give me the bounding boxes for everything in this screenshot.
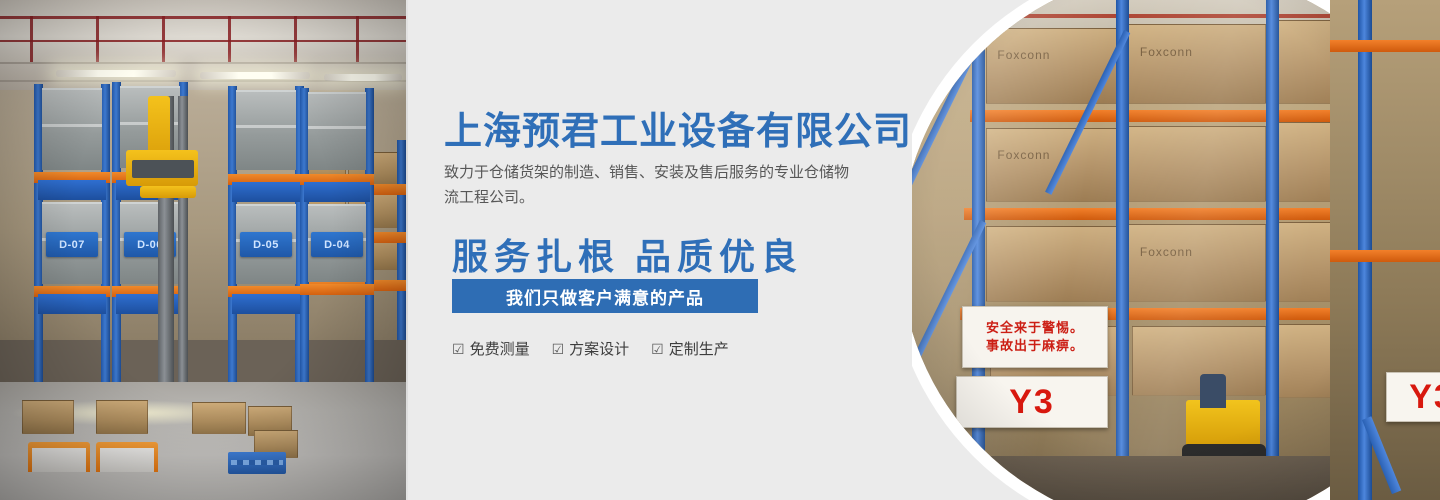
company-title: 上海预君工业设备有限公司 xyxy=(444,100,912,155)
aisle-sign-partial: Y3 xyxy=(1386,372,1440,422)
feature-item-scheme-design: ☑ 方案设计 xyxy=(552,338,630,359)
company-slogan: 服务扎根 品质优良 xyxy=(452,228,803,280)
feature-label: 方案设计 xyxy=(569,338,629,359)
right-edge-photo-bleed: Y3 xyxy=(1330,0,1440,500)
company-description: 致力于仓储货架的制造、销售、安装及售后服务的专业仓储物流工程公司。 xyxy=(444,160,860,210)
hero-text-block: 上海预君工业设备有限公司 致力于仓储货架的制造、销售、安装及售后服务的专业仓储物… xyxy=(444,0,924,500)
photo-vignette xyxy=(0,0,406,500)
left-warehouse-photo: D-07 D-06 D-05 xyxy=(0,0,406,500)
photo-divider xyxy=(406,0,408,500)
feature-item-free-measurement: ☑ 免费测量 xyxy=(452,338,530,359)
rack-beam xyxy=(1330,250,1440,262)
checkbox-checked-icon: ☑ xyxy=(452,342,465,356)
hero-banner: D-07 D-06 D-05 xyxy=(0,0,1440,500)
feature-item-custom-production: ☑ 定制生产 xyxy=(651,338,729,359)
checkbox-checked-icon: ☑ xyxy=(651,342,664,356)
feature-list: ☑ 免费测量 ☑ 方案设计 ☑ 定制生产 xyxy=(452,338,729,359)
feature-label: 免费测量 xyxy=(470,338,530,359)
checkbox-checked-icon: ☑ xyxy=(552,342,565,356)
rack-beam xyxy=(1330,40,1440,52)
aisle-label: Y3 xyxy=(1409,378,1440,417)
feature-label: 定制生产 xyxy=(669,338,729,359)
customer-promise-badge[interactable]: 我们只做客户满意的产品 xyxy=(452,279,758,313)
